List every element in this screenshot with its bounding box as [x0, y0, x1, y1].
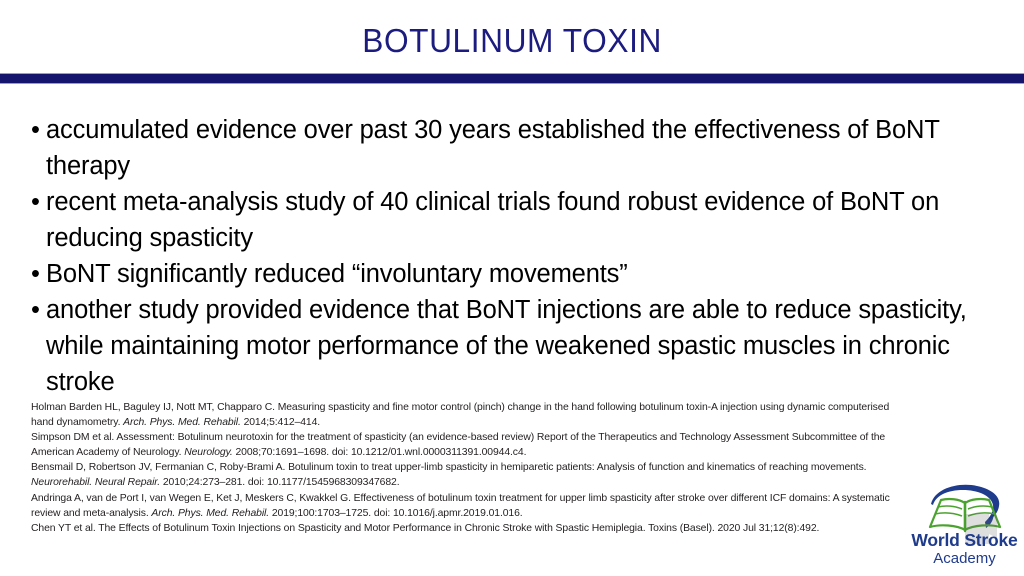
reference-2-journal: Neurology. — [184, 447, 232, 458]
bullet-marker-icon: • — [31, 184, 40, 220]
reference-3-pre: Bensmail D, Robertson JV, Fermanian C, R… — [31, 462, 866, 473]
bullet-list: •accumulated evidence over past 30 years… — [31, 112, 999, 400]
reference-4-journal: Arch. Phys. Med. Rehabil. — [151, 508, 269, 519]
title-divider-rule — [0, 73, 1024, 84]
world-stroke-academy-logo: World Stroke Academy — [905, 484, 1024, 572]
reference-1-post: 2014;5:412–414. — [241, 417, 320, 428]
reference-4-post: 2019;100:1703–1725. doi: 10.1016/j.apmr.… — [269, 508, 523, 519]
logo-line-1: World Stroke — [905, 530, 1024, 550]
slide-title-area: BOTULINUM TOXIN — [0, 22, 1024, 70]
bullet-marker-icon: • — [31, 112, 40, 148]
bullet-item-2: •recent meta-analysis study of 40 clinic… — [31, 184, 999, 256]
bullet-item-1: •accumulated evidence over past 30 years… — [31, 112, 999, 184]
reference-3-post: 2010;24:273–281. doi: 10.1177/1545968309… — [160, 477, 399, 488]
bullet-text-4: another study provided evidence that BoN… — [46, 296, 967, 396]
reference-item-4: Andringa A, van de Port I, van Wegen E, … — [31, 491, 891, 521]
page-title: BOTULINUM TOXIN — [362, 22, 662, 60]
bullet-text-1: accumulated evidence over past 30 years … — [46, 116, 939, 180]
reference-list: Holman Barden HL, Baguley IJ, Nott MT, C… — [31, 400, 891, 536]
bullet-item-4: •another study provided evidence that Bo… — [31, 292, 999, 400]
logo-wordmark: World Stroke Academy — [905, 530, 1024, 568]
logo-line-2: Academy — [905, 550, 1024, 568]
bullet-text-2: recent meta-analysis study of 40 clinica… — [46, 188, 939, 252]
bullet-text-3: BoNT significantly reduced “involuntary … — [46, 260, 628, 288]
reference-item-5: Chen YT et al. The Effects of Botulinum … — [31, 521, 891, 536]
reference-5-pre: Chen YT et al. The Effects of Botulinum … — [31, 523, 819, 534]
bullet-marker-icon: • — [31, 292, 40, 328]
reference-2-post: 2008;70:1691–1698. doi: 10.1212/01.wnl.0… — [233, 447, 527, 458]
reference-item-3: Bensmail D, Robertson JV, Fermanian C, R… — [31, 460, 891, 490]
bullet-marker-icon: • — [31, 256, 40, 292]
reference-item-2: Simpson DM et al. Assessment: Botulinum … — [31, 430, 891, 460]
reference-item-1: Holman Barden HL, Baguley IJ, Nott MT, C… — [31, 400, 891, 430]
open-book-with-swoosh-icon — [915, 484, 1015, 534]
slide-canvas: BOTULINUM TOXIN •accumulated evidence ov… — [0, 0, 1024, 576]
bullet-item-3: •BoNT significantly reduced “involuntary… — [31, 256, 999, 292]
reference-3-journal: Neurorehabil. Neural Repair. — [31, 477, 160, 488]
reference-1-journal: Arch. Phys. Med. Rehabil. — [123, 417, 241, 428]
